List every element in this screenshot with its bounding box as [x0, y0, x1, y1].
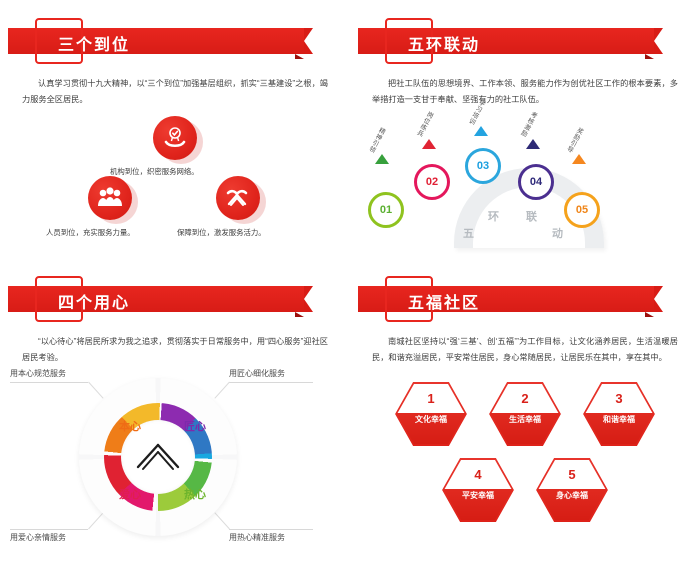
leader-line-diagonal: [88, 382, 103, 399]
leader-line: [10, 382, 88, 383]
section-three-in-place: 三个到位 认真学习贯彻十九大精神，以“三个到位”加强基层组织，抓实“三基建设”之…: [0, 14, 350, 284]
hexagon-label: 生活幸福: [509, 414, 541, 425]
ring-badge-05: 05: [564, 192, 600, 228]
ring-badge-04: 04: [518, 164, 554, 200]
ring-number: 04: [530, 176, 542, 188]
five-fortune-hexagons: 1 文化幸福 2 生活幸福 3 和谐幸福: [350, 376, 700, 546]
ring-number: 02: [426, 176, 438, 188]
section-four-hearts: 四个用心 “以心待心”将居民所求为我之追求，贯彻落实于日常服务中，用“四心服务”…: [0, 272, 350, 542]
section-title: 四个用心: [58, 289, 130, 313]
ribbon-fold: [645, 54, 654, 59]
ring-number: 03: [477, 160, 489, 172]
hexagon-number: 2: [521, 391, 528, 406]
arch-char: 动: [552, 225, 563, 241]
ring-badge-01: 01: [368, 192, 404, 228]
ribbon-tail: [654, 28, 663, 54]
hexagon-number: 3: [615, 391, 622, 406]
hexagon-number: 5: [568, 467, 575, 482]
corner-label-top-left: 用本心规范服务: [10, 368, 66, 379]
section-title: 五环联动: [408, 31, 480, 55]
ribbon-tail: [304, 28, 313, 54]
ring-label: 考核激励: [518, 110, 539, 139]
ring-number: 01: [380, 204, 392, 216]
four-hearts-diagram: 用本心规范服务 用匠心细化服务 用爱心亲情服务 用热心精准服务: [0, 370, 350, 550]
ribbon-fold: [295, 54, 304, 59]
corner-label-bottom-right: 用热心精准服务: [229, 532, 285, 543]
arch-char: 环: [488, 208, 499, 224]
hexagon-item: 1 文化幸福: [395, 382, 467, 446]
leader-line: [229, 529, 313, 530]
leader-line-diagonal: [214, 382, 229, 399]
hexagon-label: 平安幸福: [462, 490, 494, 501]
people-group-icon: [88, 176, 132, 220]
section-paragraph: “以心待心”将居民所求为我之追求，贯彻落实于日常服务中，用“四心服务”迎社区居民…: [22, 334, 328, 366]
ribbon-fold: [645, 312, 654, 317]
section-header-ribbon: 五环联动: [350, 14, 700, 60]
section-paragraph: 南城社区坚持以“强‘三基’、创‘五福’”为工作目标，让文化涵养居民，生活温暖居民…: [372, 334, 678, 366]
hexagon-number: 4: [474, 467, 481, 482]
hexagon-item: 4 平安幸福: [442, 458, 514, 522]
marker-triangle: [422, 139, 436, 149]
leader-line: [229, 382, 313, 383]
leader-line-diagonal: [214, 512, 229, 529]
corner-label-bottom-left: 用爱心亲情服务: [10, 532, 66, 543]
marker-triangle: [526, 139, 540, 149]
quadrant-label-aixin: 爱心: [119, 486, 141, 502]
hexagon-label: 身心幸福: [556, 490, 588, 501]
ring-label: 精神引领: [366, 126, 387, 155]
hexagon-item: 2 生活幸福: [489, 382, 561, 446]
hexagon-item: 5 身心幸福: [536, 458, 608, 522]
quadrant-label-benxin: 本心: [119, 418, 141, 434]
handshake-icon: [216, 176, 260, 220]
section-title: 三个到位: [58, 31, 130, 55]
quadrant-label-jiangxin: 匠心: [184, 418, 206, 434]
leader-line-diagonal: [88, 512, 103, 529]
icon-caption: 机构到位，织密服务网络。: [110, 166, 199, 177]
ring-badge-03: 03: [465, 148, 501, 184]
marker-triangle: [474, 126, 488, 136]
icon-caption: 人员到位，充实服务力量。: [46, 227, 135, 238]
three-icons-group: 机构到位，织密服务网络。 人员到位，充实服务力量。: [0, 114, 350, 234]
hexagon-label: 文化幸福: [415, 414, 447, 425]
section-header-ribbon: 四个用心: [0, 272, 350, 318]
ring-label: 岗位练兵: [414, 110, 435, 139]
award-in-hand-icon: [153, 116, 197, 160]
five-ring-diagram: 五 环 联 动 精神引领 岗位练兵 学习培训 考核激励 奖励引导 01 02 0…: [350, 112, 700, 262]
leader-line: [10, 529, 88, 530]
section-header-ribbon: 五福社区: [350, 272, 700, 318]
ribbon-tail: [304, 286, 313, 312]
section-header-ribbon: 三个到位: [0, 14, 350, 60]
marker-triangle: [572, 154, 586, 164]
section-five-ring-linkage: 五环联动 把社工队伍的思想境界、工作本领、服务能力作为创优社区工作的根本要素，多…: [350, 14, 700, 284]
ring-badge-02: 02: [414, 164, 450, 200]
quadrant-label-rexin: 热心: [184, 486, 206, 502]
arch-char: 联: [526, 208, 537, 224]
marker-triangle: [375, 154, 389, 164]
icon-caption: 保障到位，激发服务活力。: [177, 227, 266, 238]
infographic-page: 三个到位 认真学习贯彻十九大精神，以“三个到位”加强基层组织，抓实“三基建设”之…: [0, 0, 700, 571]
section-paragraph: 把社工队伍的思想境界、工作本领、服务能力作为创优社区工作的根本要素，多举措打造一…: [372, 76, 678, 108]
ribbon-tail: [654, 286, 663, 312]
section-paragraph: 认真学习贯彻十九大精神，以“三个到位”加强基层组织，抓实“三基建设”之根，竭力服…: [22, 76, 328, 108]
arch-char: 五: [463, 225, 474, 241]
section-title: 五福社区: [408, 289, 480, 313]
ribbon-fold: [295, 312, 304, 317]
hexagon-item: 3 和谐幸福: [583, 382, 655, 446]
ring-number: 05: [576, 204, 588, 216]
corner-label-top-right: 用匠心细化服务: [229, 368, 285, 379]
hexagon-label: 和谐幸福: [603, 414, 635, 425]
section-five-fortune-community: 五福社区 南城社区坚持以“强‘三基’、创‘五福’”为工作目标，让文化涵养居民，生…: [350, 272, 700, 542]
ring-label: 奖励引导: [564, 126, 585, 155]
hexagon-number: 1: [427, 391, 434, 406]
